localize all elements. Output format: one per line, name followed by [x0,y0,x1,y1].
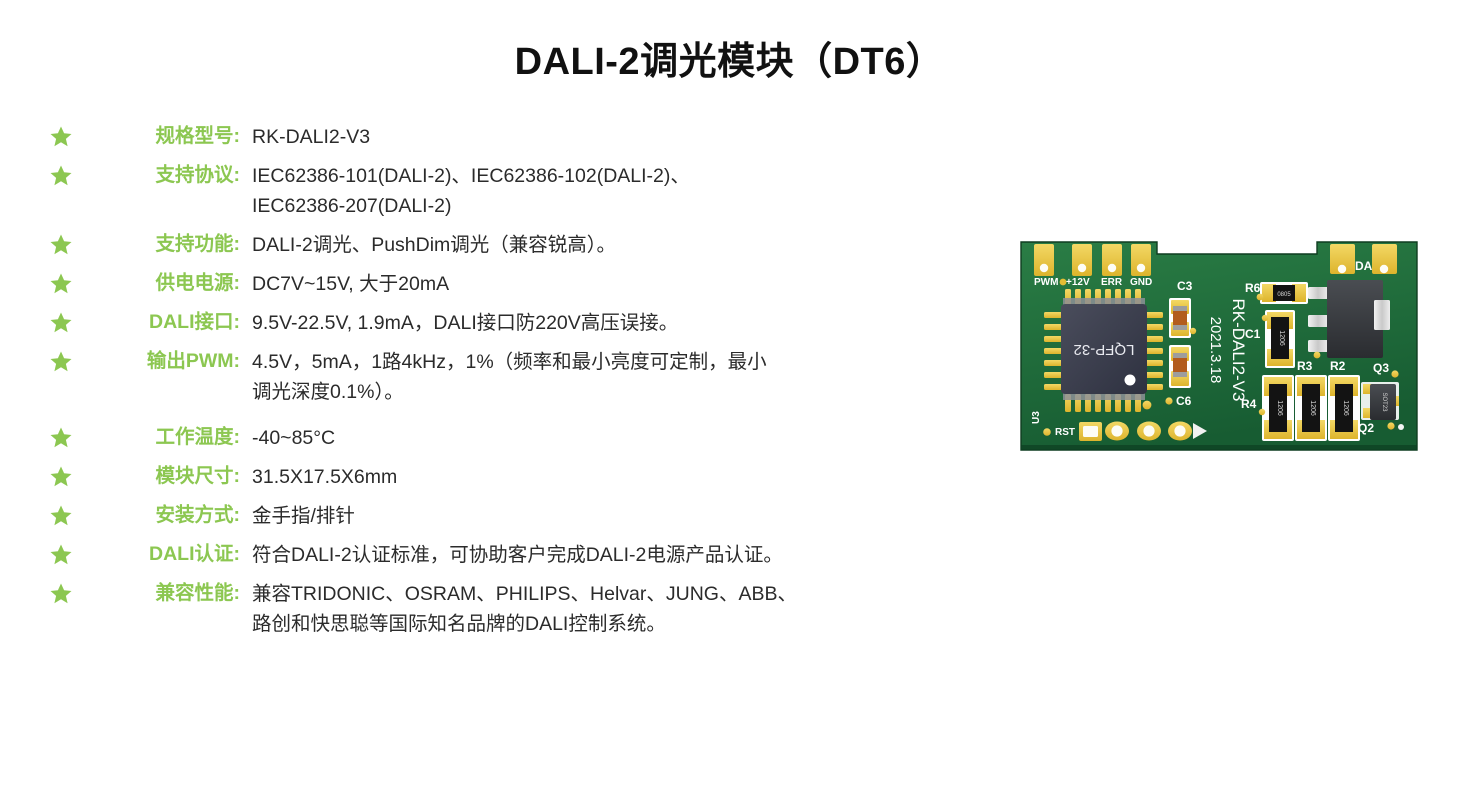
star-icon [50,230,84,255]
pcb-designator-u3: U3 [1031,411,1042,424]
spec-value-line: 兼容TRIDONIC、OSRAM、PHILIPS、Helvar、JUNG、ABB… [252,579,980,609]
spec-value-line: 9.5V-22.5V, 1.9mA，DALI接口防220V高压误接。 [252,308,980,338]
spec-value-functions: DALI-2调光、PushDim调光（兼容锐高）。 [244,230,980,260]
spec-value-line: RK-DALI2-V3 [252,122,980,152]
spec-label-compatibility: 兼容性能: [84,579,244,607]
spec-row-protocols: 支持协议: IEC62386-101(DALI-2)、IEC62386-102(… [50,161,980,221]
spec-row-pwm-output: 输出PWM: 4.5V，5mA，1路4kHz，1%（频率和最小亮度可定制，最小 … [50,347,980,407]
spec-value-line: 31.5X17.5X6mm [252,462,980,492]
spec-value-line: -40~85°C [252,423,980,453]
spec-label-protocols: 支持协议: [84,161,244,189]
spec-label-operating-temperature: 工作温度: [84,423,244,451]
spec-value-line: DC7V~15V, 大于20mA [252,269,980,299]
spec-value-line: IEC62386-207(DALI-2) [252,191,980,221]
spec-row-mounting: 安装方式: 金手指/排针 [50,501,980,531]
specification-list: 规格型号: RK-DALI2-V3 支持协议: IEC62386-101(DAL… [50,122,980,648]
star-icon [50,347,84,372]
page-title: DALI-2调光模块（DT6） [0,30,1459,85]
spec-value-line: 4.5V，5mA，1路4kHz，1%（频率和最小亮度可定制，最小 [252,347,980,377]
spec-value-operating-temperature: -40~85°C [244,423,980,453]
spec-row-model: 规格型号: RK-DALI2-V3 [50,122,980,152]
pcb-pad-label-da: DA [1355,259,1373,273]
pcb-pad-label-pwm: PWM [1034,277,1058,288]
spec-value-compatibility: 兼容TRIDONIC、OSRAM、PHILIPS、Helvar、JUNG、ABB… [244,579,980,639]
pcb-designator-r3: R3 [1297,359,1313,373]
pcb-designator-c1: C1 [1245,327,1261,341]
spec-value-line: IEC62386-101(DALI-2)、IEC62386-102(DALI-2… [252,161,980,191]
pcb-component-code-r4: 1206 [1276,400,1283,416]
pcb-designator-c3: C3 [1177,279,1193,293]
spec-label-mounting: 安装方式: [84,501,244,529]
spec-value-line: 路创和快思聪等国际知名品牌的DALI控制系统。 [252,609,980,639]
pcb-designator-r2: R2 [1330,359,1346,373]
spec-label-dali-certification: DALI认证: [84,540,244,568]
spec-row-dimensions: 模块尺寸: 31.5X17.5X6mm [50,462,980,492]
pcb-pad-label-gnd: GND [1130,277,1152,288]
star-icon [50,269,84,294]
spec-row-compatibility: 兼容性能: 兼容TRIDONIC、OSRAM、PHILIPS、Helvar、JU… [50,579,980,639]
pcb-ic-marking: LQFP-32 [1074,341,1135,358]
pcb-component-code-q2: SOT23 [1381,392,1387,412]
pcb-label-rst: RST [1055,427,1075,438]
star-icon [50,423,84,448]
star-icon [50,122,84,147]
spec-label-model: 规格型号: [84,122,244,150]
spec-row-dali-certification: DALI认证: 符合DALI-2认证标准，可协助客户完成DALI-2电源产品认证… [50,540,980,570]
spec-value-pwm-output: 4.5V，5mA，1路4kHz，1%（频率和最小亮度可定制，最小 调光深度0.1… [244,347,980,407]
pcb-pad-label-12v: +12V [1066,277,1090,288]
spec-value-dali-certification: 符合DALI-2认证标准，可协助客户完成DALI-2电源产品认证。 [244,540,980,570]
spec-value-power-supply: DC7V~15V, 大于20mA [244,269,980,299]
spec-label-dali-interface: DALI接口: [84,308,244,336]
pcb-designator-q3: Q3 [1373,361,1389,375]
pcb-component-code-r3: 1206 [1309,400,1316,416]
spec-value-dali-interface: 9.5V-22.5V, 1.9mA，DALI接口防220V高压误接。 [244,308,980,338]
spec-value-dimensions: 31.5X17.5X6mm [244,462,980,492]
spec-value-line: 符合DALI-2认证标准，可协助客户完成DALI-2电源产品认证。 [252,540,980,570]
pcb-component-code-r6: 0805 [1277,292,1291,298]
spec-row-power-supply: 供电电源: DC7V~15V, 大于20mA [50,269,980,299]
spec-row-functions: 支持功能: DALI-2调光、PushDim调光（兼容锐高）。 [50,230,980,260]
pcb-designator-c6: C6 [1176,394,1192,408]
spec-row-operating-temperature: 工作温度: -40~85°C [50,423,980,453]
spec-label-power-supply: 供电电源: [84,269,244,297]
star-icon [50,579,84,604]
pcb-pad-label-err: ERR [1101,277,1123,288]
spec-label-dimensions: 模块尺寸: [84,462,244,490]
star-icon [50,308,84,333]
pcb-designator-r4: R4 [1241,397,1257,411]
pcb-designator-q2: Q2 [1358,421,1374,435]
pcb-silkscreen-part-number: RK-DALI2-V3 [1229,299,1248,402]
pcb-product-image: PWM +12V ERR GND DA [1017,232,1421,460]
spec-label-pwm-output: 输出PWM: [84,347,244,375]
pcb-component-c6: C6 [1165,345,1191,408]
pcb-silkscreen-date-code: 2021.3.18 [1207,317,1224,384]
spec-value-model: RK-DALI2-V3 [244,122,980,152]
star-icon [50,462,84,487]
pcb-designator-r6: R6 [1245,281,1261,295]
pcb-component-code-r2: 1206 [1342,400,1349,416]
spec-label-functions: 支持功能: [84,230,244,258]
spec-row-dali-interface: DALI接口: 9.5V-22.5V, 1.9mA，DALI接口防220V高压误… [50,308,980,338]
spec-value-protocols: IEC62386-101(DALI-2)、IEC62386-102(DALI-2… [244,161,980,221]
pcb-component-code-c1: 1206 [1278,330,1285,346]
spec-value-line: DALI-2调光、PushDim调光（兼容锐高）。 [252,230,980,260]
spec-value-mounting: 金手指/排针 [244,501,980,531]
star-icon [50,501,84,526]
star-icon [50,540,84,565]
spec-value-line: 调光深度0.1%）。 [252,377,980,407]
spec-value-line: 金手指/排针 [252,501,980,531]
star-icon [50,161,84,186]
